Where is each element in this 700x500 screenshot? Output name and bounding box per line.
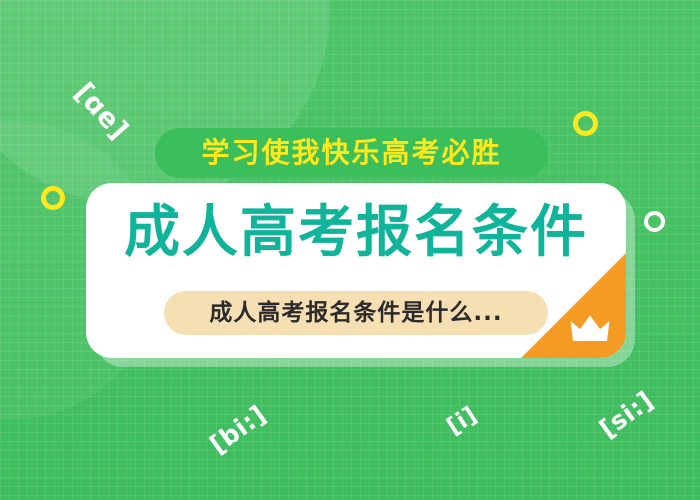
main-card: 成人高考报名条件 成人高考报名条件是什么... (86, 183, 626, 358)
ring-yellow-right-icon (573, 111, 598, 136)
phonetic-decor-4: [si:] (594, 385, 659, 443)
slogan-banner: 学习使我快乐高考必胜 (155, 128, 548, 178)
subtitle-pill: 成人高考报名条件是什么... (164, 291, 548, 335)
poster-canvas: [ɑe] [bi:] [i] [si:] 学习使我快乐高考必胜 成人高考报名条件… (0, 0, 700, 500)
ring-white-right-icon (644, 211, 665, 232)
ring-yellow-left-icon (41, 186, 65, 210)
phonetic-decor-2: [bi:] (204, 400, 271, 460)
crown-icon (570, 314, 610, 344)
phonetic-decor-3: [i] (442, 402, 482, 440)
slogan-text: 学习使我快乐高考必胜 (201, 139, 501, 167)
subtitle-text: 成人高考报名条件是什么... (209, 302, 502, 325)
